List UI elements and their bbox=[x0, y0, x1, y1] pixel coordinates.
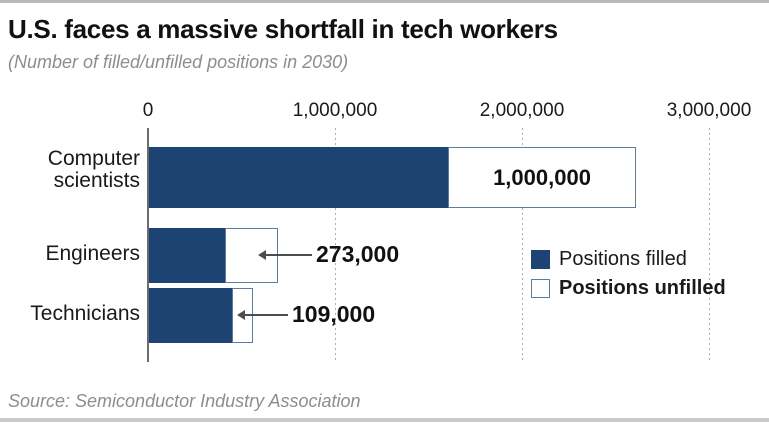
callout-line-technicians bbox=[245, 314, 288, 316]
legend-item-positions-unfilled[interactable]: Positions unfilled bbox=[531, 277, 726, 300]
bar-segment-filled-engineers[interactable] bbox=[149, 228, 225, 283]
category-label-line-2: scientists bbox=[0, 170, 140, 192]
x-tick-label-2: 2,000,000 bbox=[480, 100, 565, 122]
category-label-engineers: Engineers bbox=[0, 243, 142, 265]
data-label-engineers: 273,000 bbox=[316, 241, 399, 268]
x-tick-label-1: 1,000,000 bbox=[293, 100, 378, 122]
legend-swatch-unfilled-icon bbox=[531, 279, 550, 298]
legend-swatch-filled-icon bbox=[531, 250, 550, 269]
category-label-line-1: Engineers bbox=[0, 243, 140, 265]
bottom-rule bbox=[0, 418, 769, 422]
legend-label-positions-filled: Positions filled bbox=[559, 248, 687, 271]
bar-segment-filled-computer-scientists[interactable] bbox=[149, 147, 448, 208]
gridline-3000000 bbox=[709, 128, 710, 360]
callout-arrow-engineers-icon bbox=[258, 250, 266, 260]
category-label-line-1: Technicians bbox=[0, 303, 140, 325]
chart-plot-area: 0 1,000,000 2,000,000 3,000,000 Computer… bbox=[0, 0, 769, 424]
data-label-computer-scientists: 1,000,000 bbox=[448, 147, 636, 208]
callout-arrow-technicians-icon bbox=[237, 310, 245, 320]
category-label-line-1: Computer bbox=[0, 148, 140, 170]
bar-segment-filled-technicians[interactable] bbox=[149, 288, 232, 343]
category-label-computer-scientists: Computer scientists bbox=[0, 148, 142, 192]
legend-label-positions-unfilled: Positions unfilled bbox=[559, 277, 726, 300]
data-label-technicians: 109,000 bbox=[292, 301, 375, 328]
category-label-technicians: Technicians bbox=[0, 303, 142, 325]
x-tick-label-0: 0 bbox=[143, 100, 154, 122]
source-note: Source: Semiconductor Industry Associati… bbox=[8, 391, 361, 412]
legend-item-positions-filled[interactable]: Positions filled bbox=[531, 248, 726, 271]
x-tick-label-3: 3,000,000 bbox=[667, 100, 752, 122]
chart-legend: Positions filled Positions unfilled bbox=[531, 248, 726, 306]
callout-line-engineers bbox=[266, 254, 312, 256]
